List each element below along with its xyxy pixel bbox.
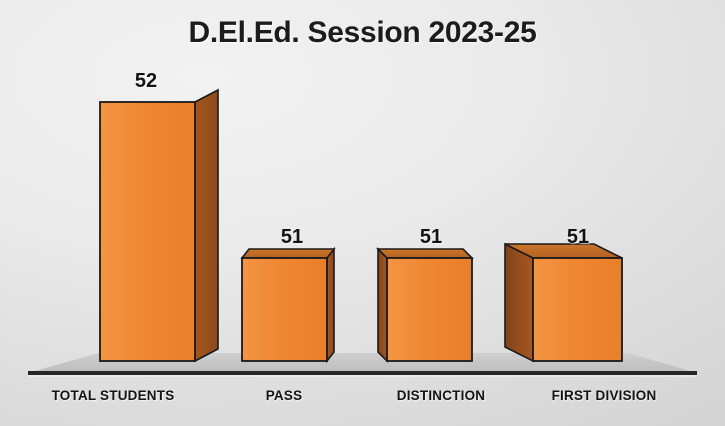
category-label-pass: PASS: [266, 388, 303, 403]
bar-side-face: [505, 244, 533, 361]
bar-front-face: [100, 102, 195, 361]
chart-container: D.El.Ed. Session 2023-25 52515151 TOTAL …: [0, 0, 725, 426]
category-label-first-division: FIRST DIVISION: [552, 388, 657, 403]
bar-pass: [242, 249, 334, 361]
bar-side-face: [378, 249, 387, 361]
category-label-distinction: DISTINCTION: [397, 388, 485, 403]
bar-side-face: [327, 249, 334, 361]
category-label-total-students: TOTAL STUDENTS: [52, 388, 175, 403]
bar-total-students: [100, 90, 218, 361]
bar-side-face: [195, 90, 218, 361]
bar-distinction: [378, 249, 472, 361]
chart-title: D.El.Ed. Session 2023-25: [0, 16, 725, 50]
bar-front-face: [533, 258, 622, 361]
bar-front-face: [242, 258, 327, 361]
bar-first-division: [505, 244, 622, 361]
bar-value-label: 51: [567, 226, 589, 249]
bar-front-face: [387, 258, 472, 361]
chart-canvas: [0, 0, 725, 426]
bar-value-label: 51: [420, 226, 442, 249]
bar-top-face: [242, 249, 334, 258]
bar-value-label: 52: [135, 70, 157, 93]
bar-series: [100, 90, 622, 361]
bar-top-face: [378, 249, 472, 258]
bar-value-label: 51: [281, 226, 303, 249]
